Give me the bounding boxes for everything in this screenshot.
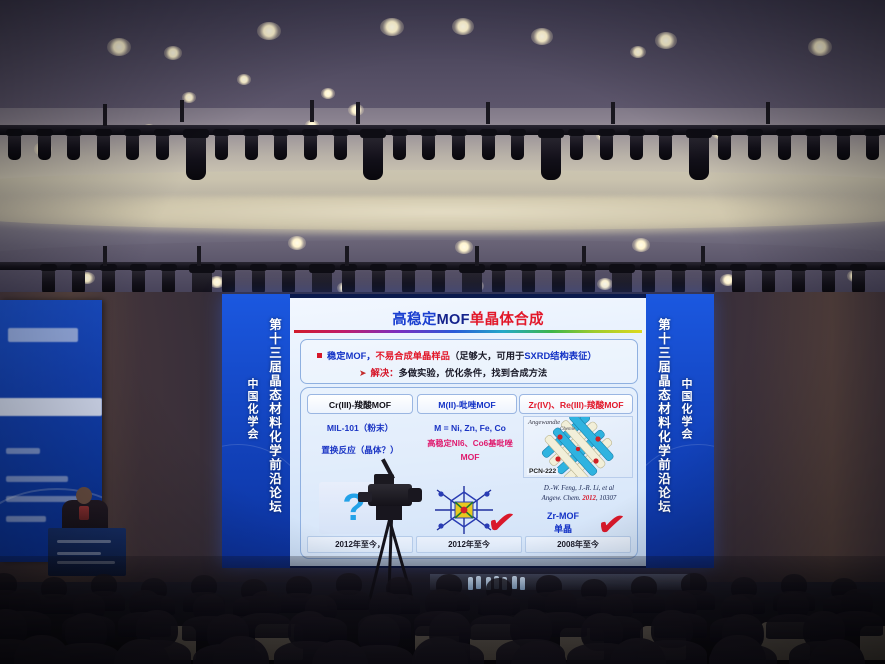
stage-lamp bbox=[245, 134, 258, 160]
truss-support-rod bbox=[180, 100, 184, 122]
downlight bbox=[237, 74, 251, 85]
speaker-head bbox=[76, 487, 92, 504]
journal-masthead-sub: Chemie bbox=[560, 427, 575, 432]
poster-text-line bbox=[6, 476, 68, 482]
truss-support-rod bbox=[611, 102, 615, 124]
poster-title-blur bbox=[0, 398, 102, 416]
bullet-1-seg-3: SXRD bbox=[524, 351, 550, 361]
downlight bbox=[597, 278, 613, 290]
zr-mof-label-line1: Zr-MOF bbox=[523, 510, 603, 523]
bullet-arrow-icon: ➤ bbox=[359, 368, 367, 378]
stage-lamp bbox=[748, 134, 761, 160]
downlight bbox=[164, 46, 182, 60]
downlight bbox=[455, 240, 473, 254]
bullet-square-icon bbox=[317, 353, 322, 358]
truss-support-rod bbox=[103, 104, 107, 126]
podium-text-strip bbox=[57, 552, 101, 555]
m2-line-2: 高稳定NI6、Co6基吡唑 bbox=[415, 438, 525, 451]
truss-support-rod bbox=[103, 246, 107, 266]
downlight bbox=[182, 92, 196, 103]
title-rainbow-rule bbox=[294, 330, 642, 333]
stage-lamp bbox=[778, 134, 791, 160]
downlight bbox=[808, 38, 832, 56]
slide-bullet-box: 稳定MOF，不易合成单晶样品（足够大，可用于SXRD结构表征） ➤解决：多做实验… bbox=[300, 339, 638, 384]
bullet-1-seg-0: 稳定MOF， bbox=[327, 351, 376, 361]
bullet-row-2: ➤解决：多做实验，优化条件，找到合成方法 bbox=[359, 365, 547, 379]
stage-lamp bbox=[837, 134, 850, 160]
downlight bbox=[380, 18, 404, 36]
category-chip-zr: Zr(IV)、Re(III)-羧酸MOF bbox=[519, 394, 633, 414]
truss-support-rod bbox=[310, 100, 314, 122]
stage-lamp bbox=[274, 134, 287, 160]
stage-lamp bbox=[304, 134, 317, 160]
stage-lamp bbox=[186, 134, 206, 180]
stage-lamp bbox=[38, 134, 51, 160]
cr-line-1: MIL-101（粉末） bbox=[305, 422, 415, 435]
citation-page: 10307 bbox=[599, 495, 616, 502]
stage-lamp bbox=[452, 134, 465, 160]
downlight bbox=[257, 22, 281, 40]
banner-sub-text: 中国化学会 bbox=[678, 378, 694, 441]
stage-lamp bbox=[393, 134, 406, 160]
downlight bbox=[288, 236, 306, 250]
stage-lamp bbox=[511, 134, 524, 160]
downlight bbox=[321, 88, 335, 99]
camera-lens bbox=[408, 488, 422, 502]
journal-masthead: Angewandte bbox=[528, 419, 560, 426]
stage-lamp bbox=[718, 134, 731, 160]
truss-support-rod bbox=[356, 102, 360, 124]
citation-authors: D.-W. Feng, J.-R. Li, et al bbox=[544, 485, 614, 492]
citation-text: D.-W. Feng, J.-R. Li, et al Angew. Chem.… bbox=[521, 484, 637, 504]
stage-lamp bbox=[659, 134, 672, 160]
water-bottle bbox=[468, 577, 473, 590]
bullet-1-seg-2: （足够大，可用于 bbox=[450, 351, 524, 361]
downlight bbox=[452, 18, 474, 35]
citation-journal: Angew. Chem. bbox=[542, 495, 581, 502]
bullet-2-label: 解决： bbox=[371, 368, 399, 378]
zr-mof-label: Zr-MOF 单晶 bbox=[523, 510, 603, 535]
camera-monitor bbox=[358, 492, 372, 502]
stage-lamp bbox=[215, 134, 228, 160]
projection-screen: 第十三届晶态材料化学前沿论坛 中国化学会 第十三届晶态材料化学前沿论坛 中国化学… bbox=[222, 294, 714, 568]
stage-lamp bbox=[67, 134, 80, 160]
stage-lamp bbox=[541, 134, 561, 180]
stage-lamp bbox=[8, 134, 21, 160]
water-bottle bbox=[512, 576, 517, 589]
truss-support-rod bbox=[486, 102, 490, 124]
stage-lamp bbox=[156, 134, 169, 160]
conference-hall-photo: 第十三届晶态材料化学前沿论坛 中国化学会 第十三届晶态材料化学前沿论坛 中国化学… bbox=[0, 0, 885, 664]
stage-lamp bbox=[126, 134, 139, 160]
poster-university-logo-icon bbox=[8, 328, 78, 342]
audience-area bbox=[0, 556, 885, 664]
category-column-cr: MIL-101（粉末） 置换反应（晶体？） bbox=[305, 418, 415, 458]
slide-category-box: Cr(III)-羧酸MOF M(II)-吡唑MOF Zr(IV)、Re(III)… bbox=[300, 387, 638, 559]
truss-support-rod bbox=[701, 246, 705, 266]
banner-main-text: 第十三届晶态材料化学前沿论坛 bbox=[265, 318, 284, 514]
slide-title-part-navy: MOF bbox=[437, 312, 470, 328]
speaker-lanyard bbox=[79, 506, 89, 520]
downlight bbox=[630, 46, 646, 58]
category-chip-cr: Cr(III)-羧酸MOF bbox=[307, 394, 413, 414]
bullet-1-seg-4: 结构表征） bbox=[550, 351, 597, 361]
truss-support-rod bbox=[475, 246, 479, 266]
tripod-head bbox=[376, 506, 402, 520]
downlight bbox=[531, 28, 553, 45]
banner-main-text: 第十三届晶态材料化学前沿论坛 bbox=[654, 318, 673, 514]
truss-support-rod bbox=[197, 246, 201, 266]
ceiling-band-upper bbox=[0, 0, 885, 108]
truss-support-rod bbox=[766, 102, 770, 124]
truss-support-rod bbox=[582, 246, 586, 266]
stage-banner-right: 第十三届晶态材料化学前沿论坛 中国化学会 bbox=[646, 294, 714, 568]
bullet-1-seg-1: 不易合成单晶样品 bbox=[376, 351, 450, 361]
stage-lamp bbox=[807, 134, 820, 160]
water-bottle bbox=[520, 577, 525, 590]
downlight bbox=[655, 32, 677, 49]
m2-line-1: M = Ni, Zn, Fe, Co bbox=[415, 422, 525, 435]
m2-line-3: MOF bbox=[415, 451, 525, 464]
camera-body bbox=[368, 484, 412, 506]
slide-title-part-blue: 高稳定 bbox=[392, 312, 436, 328]
truss-support-rod bbox=[345, 246, 349, 266]
zr-mof-label-line2: 单晶 bbox=[523, 523, 603, 536]
bullet-row-1: 稳定MOF，不易合成单晶样品（足够大，可用于SXRD结构表征） bbox=[317, 348, 597, 362]
date-cell-zr: 2008年至今 bbox=[525, 536, 631, 553]
stage-banner-left: 第十三届晶态材料化学前沿论坛 中国化学会 bbox=[222, 294, 290, 568]
podium-logo-strip bbox=[57, 540, 111, 543]
category-column-m2: M = Ni, Zn, Fe, Co 高稳定NI6、Co6基吡唑 MOF bbox=[415, 418, 525, 464]
stage-lamp bbox=[570, 134, 583, 160]
stage-lamp bbox=[363, 134, 383, 180]
water-bottle bbox=[476, 576, 481, 589]
stage-lamp bbox=[630, 134, 643, 160]
stage-lamp bbox=[334, 134, 347, 160]
poster-text-line bbox=[6, 448, 40, 454]
citation-year: 2012 bbox=[582, 495, 596, 502]
downlight bbox=[632, 238, 650, 252]
banner-sub-text: 中国化学会 bbox=[244, 378, 260, 441]
stage-lamp bbox=[482, 134, 495, 160]
category-chip-m2: M(II)-吡唑MOF bbox=[417, 394, 517, 414]
stage-lamp bbox=[600, 134, 613, 160]
ceiling-cove-light bbox=[0, 196, 885, 236]
stage-lamp bbox=[97, 134, 110, 160]
stage-lamp bbox=[422, 134, 435, 160]
slide-title: 高稳定MOF单晶体合成 bbox=[290, 308, 646, 329]
slide-title-part-red: 单晶体合成 bbox=[470, 312, 544, 328]
pcn222-label: PCN-222 bbox=[527, 468, 558, 475]
stage-lamp bbox=[689, 134, 709, 180]
bullet-2-rest: 多做实验，优化条件，找到合成方法 bbox=[398, 368, 547, 378]
cr-line-2: 置换反应（晶体？） bbox=[305, 444, 415, 457]
presentation-slide: 高稳定MOF单晶体合成 稳定MOF，不易合成单晶样品（足够大，可用于SXRD结构… bbox=[290, 298, 646, 566]
stage-lamp bbox=[866, 134, 879, 160]
